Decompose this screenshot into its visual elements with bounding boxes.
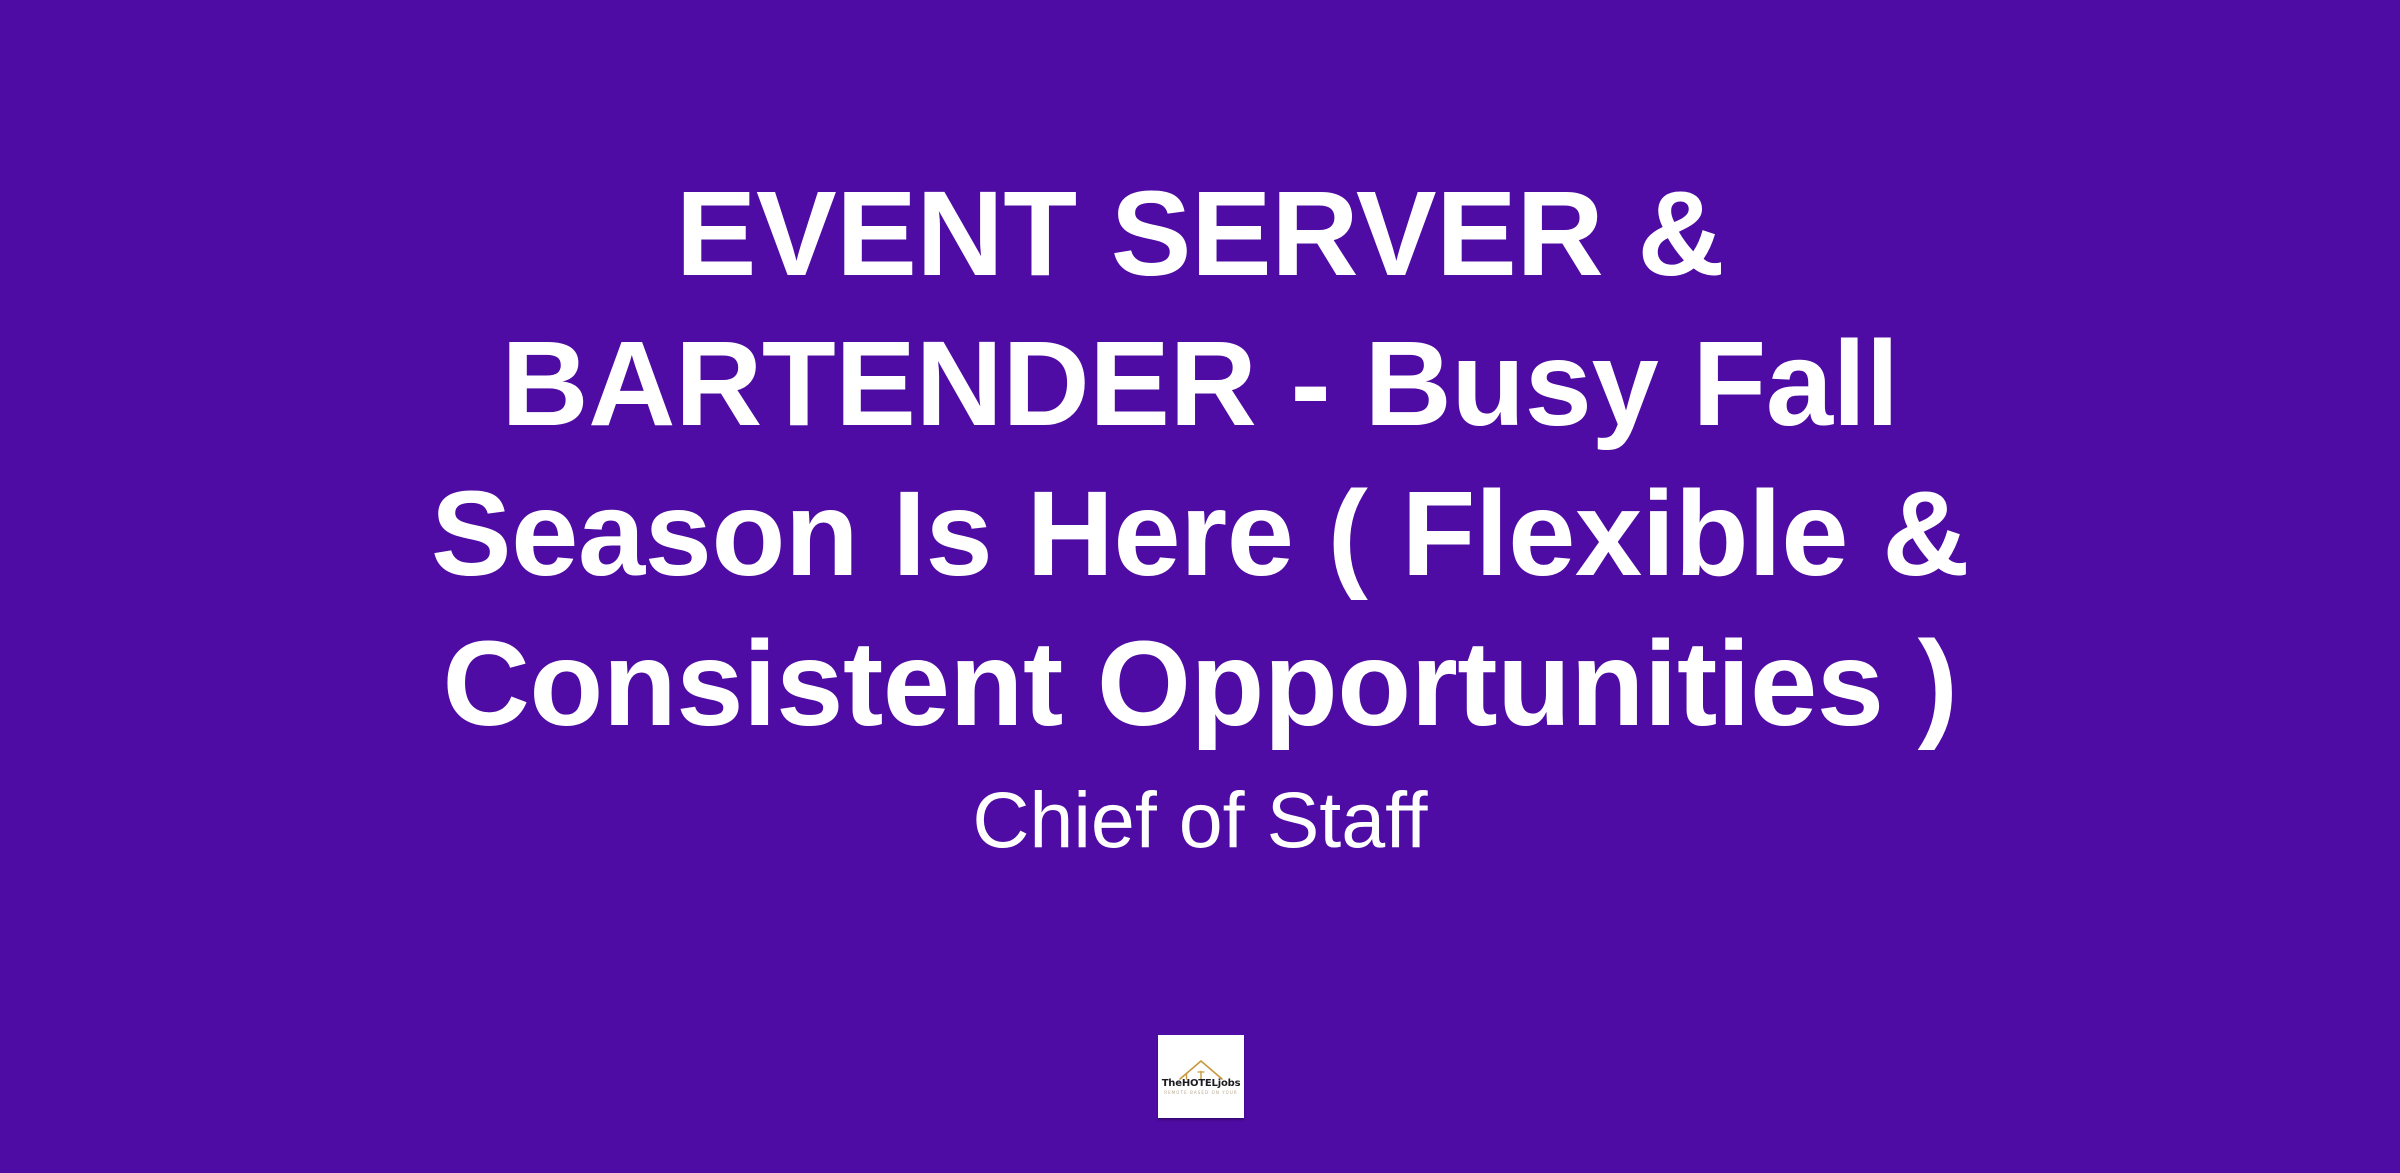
job-posting-card: EVENT SERVER & BARTENDER - Busy Fall Sea… bbox=[0, 0, 2400, 1173]
logo-word-hotel: HOTEL bbox=[1182, 1078, 1218, 1089]
company-subtitle: Chief of Staff bbox=[0, 772, 2400, 868]
logo-word-the: The bbox=[1162, 1078, 1182, 1089]
headline-line-2: BARTENDER - Busy Fall bbox=[220, 308, 2180, 458]
logo-tagline: remote based on your bbox=[1164, 1090, 1238, 1096]
headline-block: EVENT SERVER & BARTENDER - Busy Fall Sea… bbox=[0, 158, 2400, 758]
brand-logo: TheHOTELjobs remote based on your bbox=[1158, 1035, 1244, 1118]
headline-line-4: Consistent Opportunities ) bbox=[220, 608, 2180, 758]
page-title: EVENT SERVER & BARTENDER - Busy Fall Sea… bbox=[220, 158, 2180, 758]
logo-inner: TheHOTELjobs remote based on your bbox=[1163, 1059, 1239, 1096]
house-roof-icon bbox=[1178, 1059, 1224, 1080]
headline-line-3: Season Is Here ( Flexible & bbox=[220, 458, 2180, 608]
logo-wordmark: TheHOTELjobs bbox=[1162, 1078, 1241, 1089]
headline-line-1: EVENT SERVER & bbox=[220, 158, 2180, 308]
logo-word-jobs: jobs bbox=[1218, 1078, 1241, 1089]
